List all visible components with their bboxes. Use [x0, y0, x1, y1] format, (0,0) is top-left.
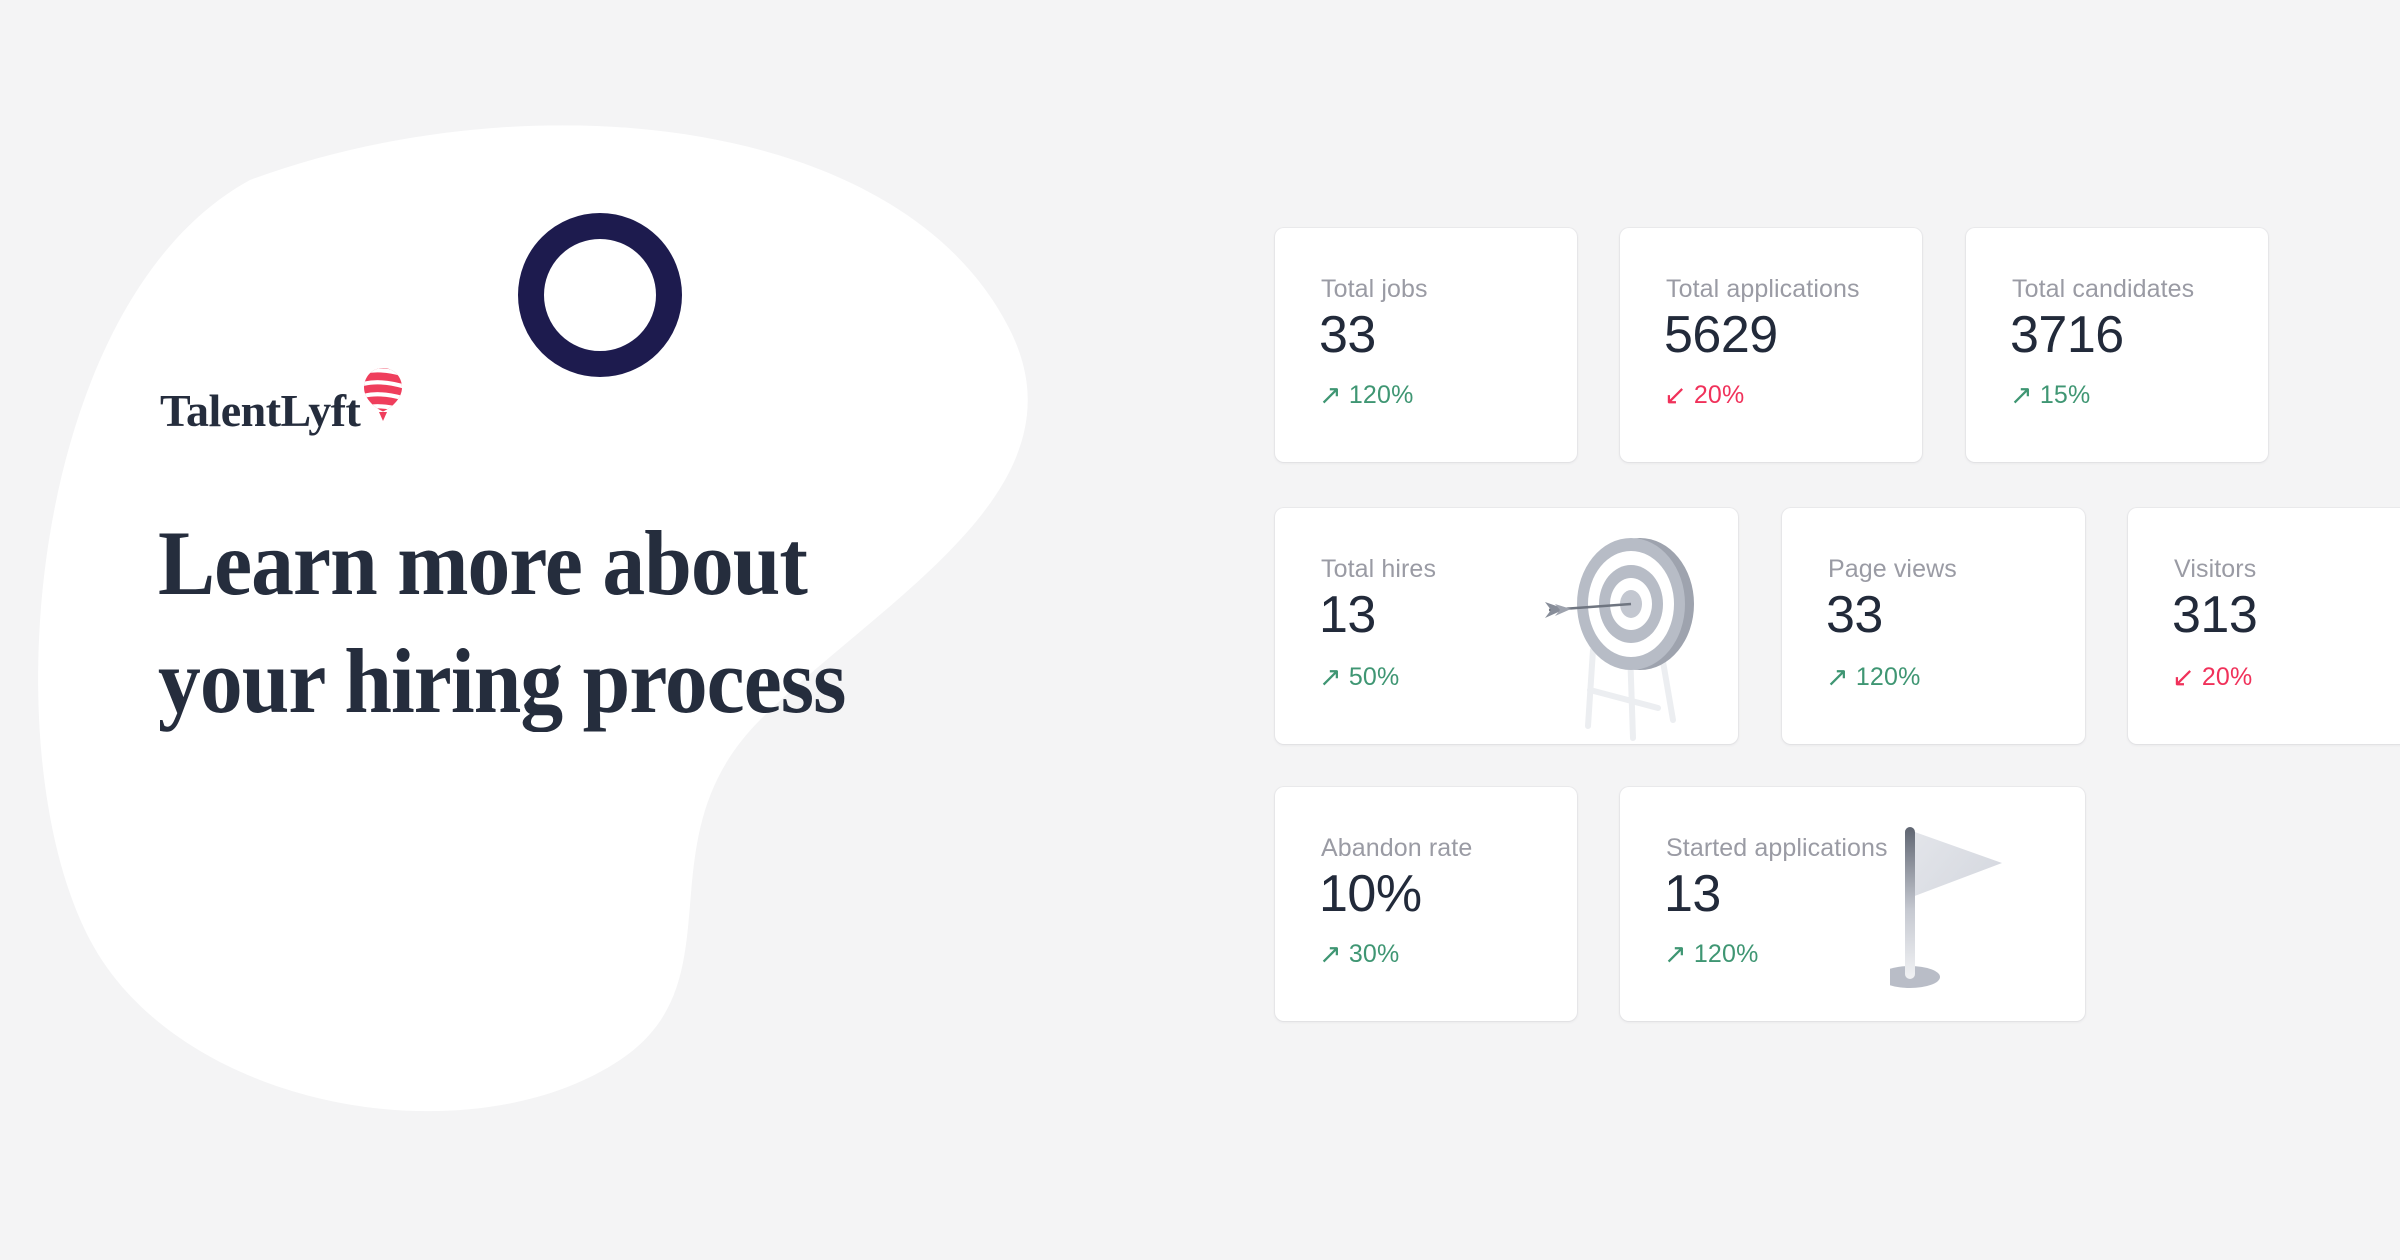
- card-value: 10%: [1319, 864, 1422, 924]
- trend-down-arrow-icon: ↙: [2172, 664, 2195, 691]
- trend-up-arrow-icon: ↗: [1319, 382, 1342, 409]
- card-value: 5629: [1664, 305, 1778, 365]
- trend-up-arrow-icon: ↗: [1319, 664, 1342, 691]
- delta-value: 20%: [2202, 663, 2253, 692]
- trend-up-arrow-icon: ↗: [1319, 941, 1342, 968]
- delta-value: 15%: [2040, 381, 2091, 410]
- card-label: Total jobs: [1321, 275, 1428, 304]
- delta-value: 20%: [1694, 381, 1745, 410]
- card-delta: ↙ 20%: [1664, 381, 1744, 410]
- delta-value: 120%: [1349, 381, 1414, 410]
- delta-value: 50%: [1349, 663, 1400, 692]
- metrics-dashboard: Total jobs 33 ↗ 120% Total applications …: [0, 0, 2400, 1260]
- stat-card-abandon-rate[interactable]: Abandon rate 10% ↗ 30%: [1275, 787, 1577, 1021]
- stat-card-total-candidates[interactable]: Total candidates 3716 ↗ 15%: [1966, 228, 2268, 462]
- card-value: 13: [1319, 585, 1376, 645]
- card-label: Total hires: [1321, 555, 1436, 584]
- delta-value: 30%: [1349, 940, 1400, 969]
- card-delta: ↗ 15%: [2010, 381, 2090, 410]
- card-delta: ↗ 120%: [1826, 663, 1921, 692]
- stat-card-visitors[interactable]: Visitors 313 ↙ 20%: [2128, 508, 2400, 744]
- card-value: 13: [1664, 864, 1721, 924]
- card-delta: ↗ 30%: [1319, 940, 1399, 969]
- flag-illustration: [1890, 805, 2035, 1005]
- card-value: 33: [1319, 305, 1376, 365]
- card-value: 3716: [2010, 305, 2124, 365]
- card-delta: ↗ 120%: [1664, 940, 1759, 969]
- trend-up-arrow-icon: ↗: [1826, 664, 1849, 691]
- card-label: Started applications: [1666, 834, 1888, 863]
- stat-card-page-views[interactable]: Page views 33 ↗ 120%: [1782, 508, 2085, 744]
- stat-card-total-jobs[interactable]: Total jobs 33 ↗ 120%: [1275, 228, 1577, 462]
- card-label: Total candidates: [2012, 275, 2194, 304]
- card-value: 313: [2172, 585, 2257, 645]
- trend-up-arrow-icon: ↗: [1664, 941, 1687, 968]
- card-label: Total applications: [1666, 275, 1860, 304]
- card-delta: ↙ 20%: [2172, 663, 2252, 692]
- trend-up-arrow-icon: ↗: [2010, 382, 2033, 409]
- card-label: Page views: [1828, 555, 1957, 584]
- delta-value: 120%: [1694, 940, 1759, 969]
- card-label: Abandon rate: [1321, 834, 1472, 863]
- trend-down-arrow-icon: ↙: [1664, 382, 1687, 409]
- stat-card-total-applications[interactable]: Total applications 5629 ↙ 20%: [1620, 228, 1922, 462]
- card-value: 33: [1826, 585, 1883, 645]
- card-delta: ↗ 120%: [1319, 381, 1414, 410]
- card-delta: ↗ 50%: [1319, 663, 1399, 692]
- target-with-arrow-illustration: [1533, 530, 1723, 744]
- card-label: Visitors: [2174, 555, 2256, 584]
- delta-value: 120%: [1856, 663, 1921, 692]
- stat-card-started-applications[interactable]: Started applications 13 ↗ 120%: [1620, 787, 2085, 1021]
- stat-card-total-hires[interactable]: Total hires 13 ↗ 50%: [1275, 508, 1738, 744]
